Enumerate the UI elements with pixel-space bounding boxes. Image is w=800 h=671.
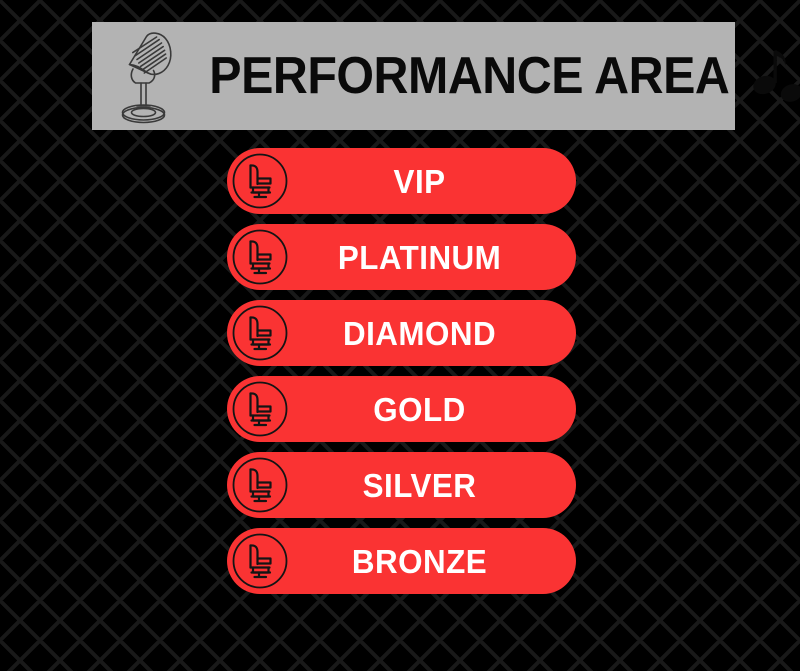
tier-label: BRONZE (236, 545, 568, 578)
tier-button-diamond[interactable]: DIAMOND (227, 300, 576, 366)
tier-label: VIP (236, 165, 568, 198)
tier-button-bronze[interactable]: BRONZE (227, 528, 576, 594)
performance-area-header: PERFORMANCE AREA (92, 22, 735, 130)
page-title: PERFORMANCE AREA (202, 50, 729, 102)
microphone-icon (104, 26, 182, 126)
tier-button-silver[interactable]: SILVER (227, 452, 576, 518)
tier-label: PLATINUM (236, 241, 568, 274)
tier-label: SILVER (236, 469, 568, 502)
tier-label: GOLD (236, 393, 568, 426)
seating-tier-list: VIP PLATINUM (227, 148, 576, 594)
app-root: PERFORMANCE AREA (0, 0, 800, 671)
tier-button-gold[interactable]: GOLD (227, 376, 576, 442)
tier-button-vip[interactable]: VIP (227, 148, 576, 214)
music-notes-icon (751, 45, 800, 107)
tier-button-platinum[interactable]: PLATINUM (227, 224, 576, 290)
tier-label: DIAMOND (236, 317, 568, 350)
